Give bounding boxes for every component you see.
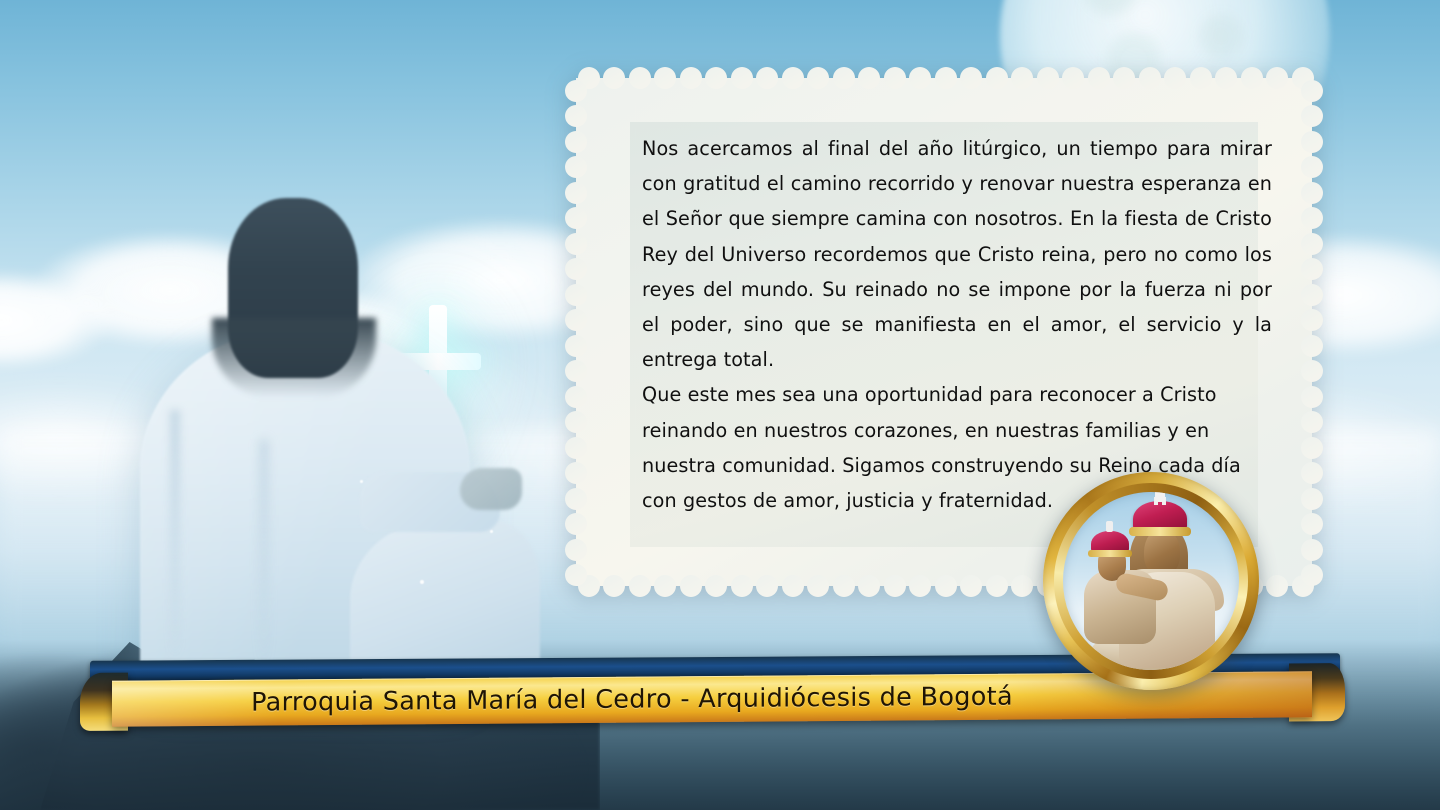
stamp-perforation	[565, 437, 587, 459]
stamp-perforation	[1241, 67, 1263, 89]
stamp-perforation	[603, 67, 625, 89]
stamp-perforation	[858, 67, 880, 89]
stamp-perforation	[565, 182, 587, 204]
stamp-perforation	[1215, 67, 1237, 89]
stamp-perforation	[1301, 488, 1323, 510]
stamp-perforation	[960, 67, 982, 89]
stamp-perforation	[782, 67, 804, 89]
slide-canvas: Nos acercamos al final del año litúrgico…	[0, 0, 1440, 810]
stamp-perforation	[1088, 67, 1110, 89]
stamp-perforation	[1301, 233, 1323, 255]
stamp-perforation	[1301, 131, 1323, 153]
stamp-perforation	[986, 67, 1008, 89]
stamp-perforation	[1139, 67, 1161, 89]
stamp-perforation	[1190, 67, 1212, 89]
stamp-perforation	[680, 575, 702, 597]
stamp-perforation	[565, 386, 587, 408]
stamp-perforation	[565, 105, 587, 127]
message-paragraph-1: Nos acercamos al final del año litúrgico…	[642, 131, 1272, 377]
stamp-perforation	[629, 67, 651, 89]
sparkle	[490, 530, 493, 533]
stamp-perforation	[1062, 67, 1084, 89]
stamp-perforation	[565, 131, 587, 153]
stamp-perforation	[565, 284, 587, 306]
stamp-perforation	[731, 575, 753, 597]
stamp-perforation	[565, 462, 587, 484]
stamp-perforation	[565, 488, 587, 510]
sparkle	[420, 580, 424, 584]
figure-hair	[228, 198, 358, 378]
stamp-perforation	[705, 67, 727, 89]
stamp-perforation	[1301, 284, 1323, 306]
stamp-perforation	[565, 233, 587, 255]
stamp-perforation	[565, 207, 587, 229]
parish-medallion[interactable]	[1043, 472, 1259, 690]
stamp-perforation	[935, 67, 957, 89]
stamp-perforation	[1301, 80, 1323, 102]
stamp-perforation	[833, 67, 855, 89]
stamp-perforation	[884, 575, 906, 597]
stamp-perforation	[1037, 67, 1059, 89]
stamp-perforation	[565, 335, 587, 357]
stamp-perforation	[1164, 67, 1186, 89]
stamp-perforation	[654, 67, 676, 89]
stamp-perforation	[1301, 182, 1323, 204]
robe-fold-secondary	[260, 440, 268, 670]
sparkle	[360, 480, 363, 483]
stamp-perforation	[935, 575, 957, 597]
stamp-perforation	[565, 80, 587, 102]
stamp-perforation	[833, 575, 855, 597]
stamp-perforation	[565, 411, 587, 433]
stamp-perforation	[565, 258, 587, 280]
stamp-perforation	[565, 309, 587, 331]
robe-fold	[170, 410, 180, 660]
stamp-perforation	[1011, 67, 1033, 89]
stamp-perforation	[1301, 539, 1323, 561]
stamp-perforation	[1113, 67, 1135, 89]
stamp-perforation	[565, 360, 587, 382]
stamp-perforation	[807, 67, 829, 89]
stamp-perforation	[884, 67, 906, 89]
stamp-perforation	[565, 539, 587, 561]
virgin-mary-and-child-statue	[1063, 492, 1239, 670]
stamp-perforation	[756, 67, 778, 89]
stamp-perforation	[680, 67, 702, 89]
jesus-figure	[60, 180, 580, 690]
stamp-perforation	[909, 67, 931, 89]
stamp-perforation	[629, 575, 651, 597]
stamp-perforation	[565, 513, 587, 535]
stamp-perforation	[1301, 437, 1323, 459]
stamp-perforation	[565, 156, 587, 178]
stamp-perforation	[1266, 67, 1288, 89]
child-crown-icon	[1091, 531, 1129, 553]
stamp-perforation	[1301, 335, 1323, 357]
stamp-perforation	[1301, 386, 1323, 408]
stamp-perforation	[782, 575, 804, 597]
mary-crown-icon	[1133, 501, 1187, 531]
stamp-perforation	[986, 575, 1008, 597]
figure-hand	[460, 468, 522, 510]
stamp-perforation	[731, 67, 753, 89]
